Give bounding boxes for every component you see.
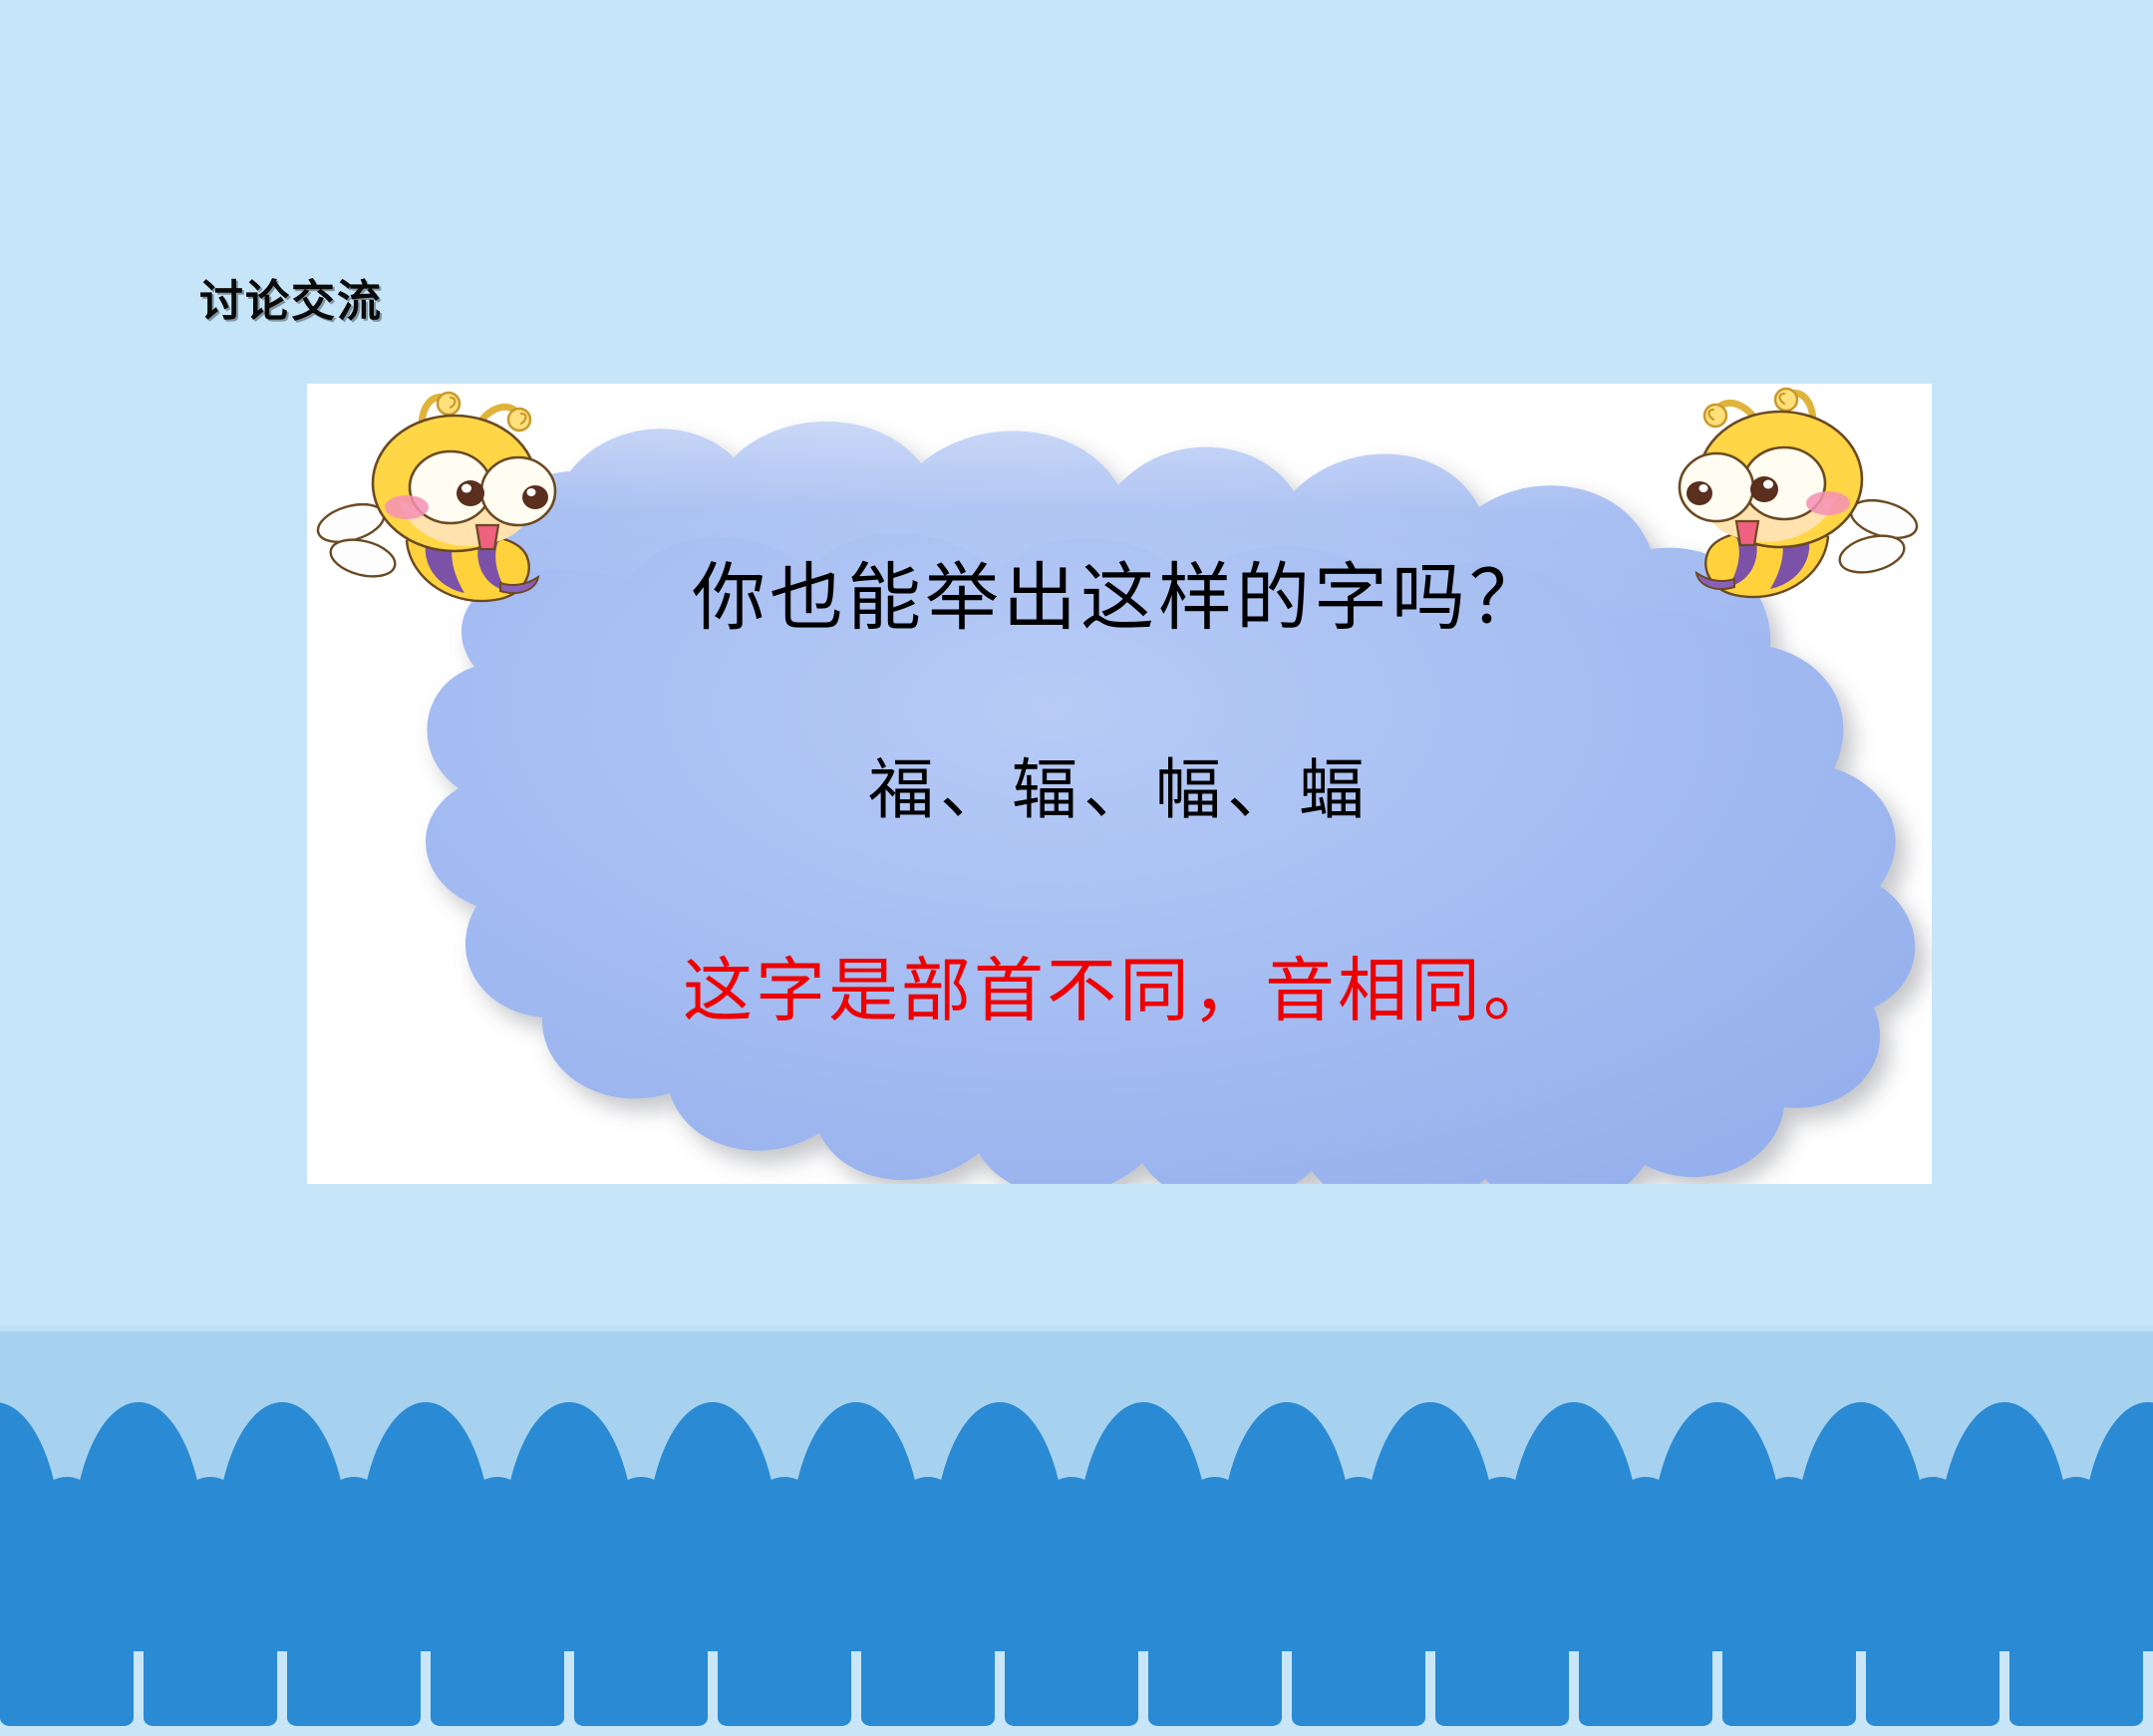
- conclusion-text: 这字是部首不同，音相同。: [307, 956, 1932, 1025]
- question-text: 你也能举出这样的字吗？: [307, 561, 1932, 635]
- decorative-arch: [1722, 1477, 1856, 1726]
- decorative-arch: [431, 1477, 564, 1726]
- decorative-arch: [1579, 1477, 1712, 1726]
- decorative-arch: [574, 1477, 708, 1726]
- decorative-arch: [287, 1477, 421, 1726]
- decorative-arch: [1292, 1477, 1425, 1726]
- decorative-arch: [0, 1477, 134, 1726]
- decorative-arch: [144, 1477, 277, 1726]
- content-panel: 你也能举出这样的字吗？ 福、辐、幅、蝠 这字是部首不同，音相同。: [307, 384, 1932, 1184]
- decorative-arch: [718, 1477, 851, 1726]
- page-title: 讨论交流: [199, 280, 383, 324]
- example-characters-text: 福、辐、幅、蝠: [307, 757, 1932, 823]
- slide-stage: 讨论交流: [0, 0, 2153, 1614]
- decorative-arch: [1005, 1477, 1138, 1726]
- decorative-arch: [1435, 1477, 1569, 1726]
- decorative-arch: [2009, 1477, 2143, 1726]
- decorative-arch: [1148, 1477, 1282, 1726]
- decorative-arch: [1866, 1477, 1999, 1726]
- decorative-arch: [861, 1477, 995, 1726]
- decorative-arch-row-front: [0, 1477, 2153, 1736]
